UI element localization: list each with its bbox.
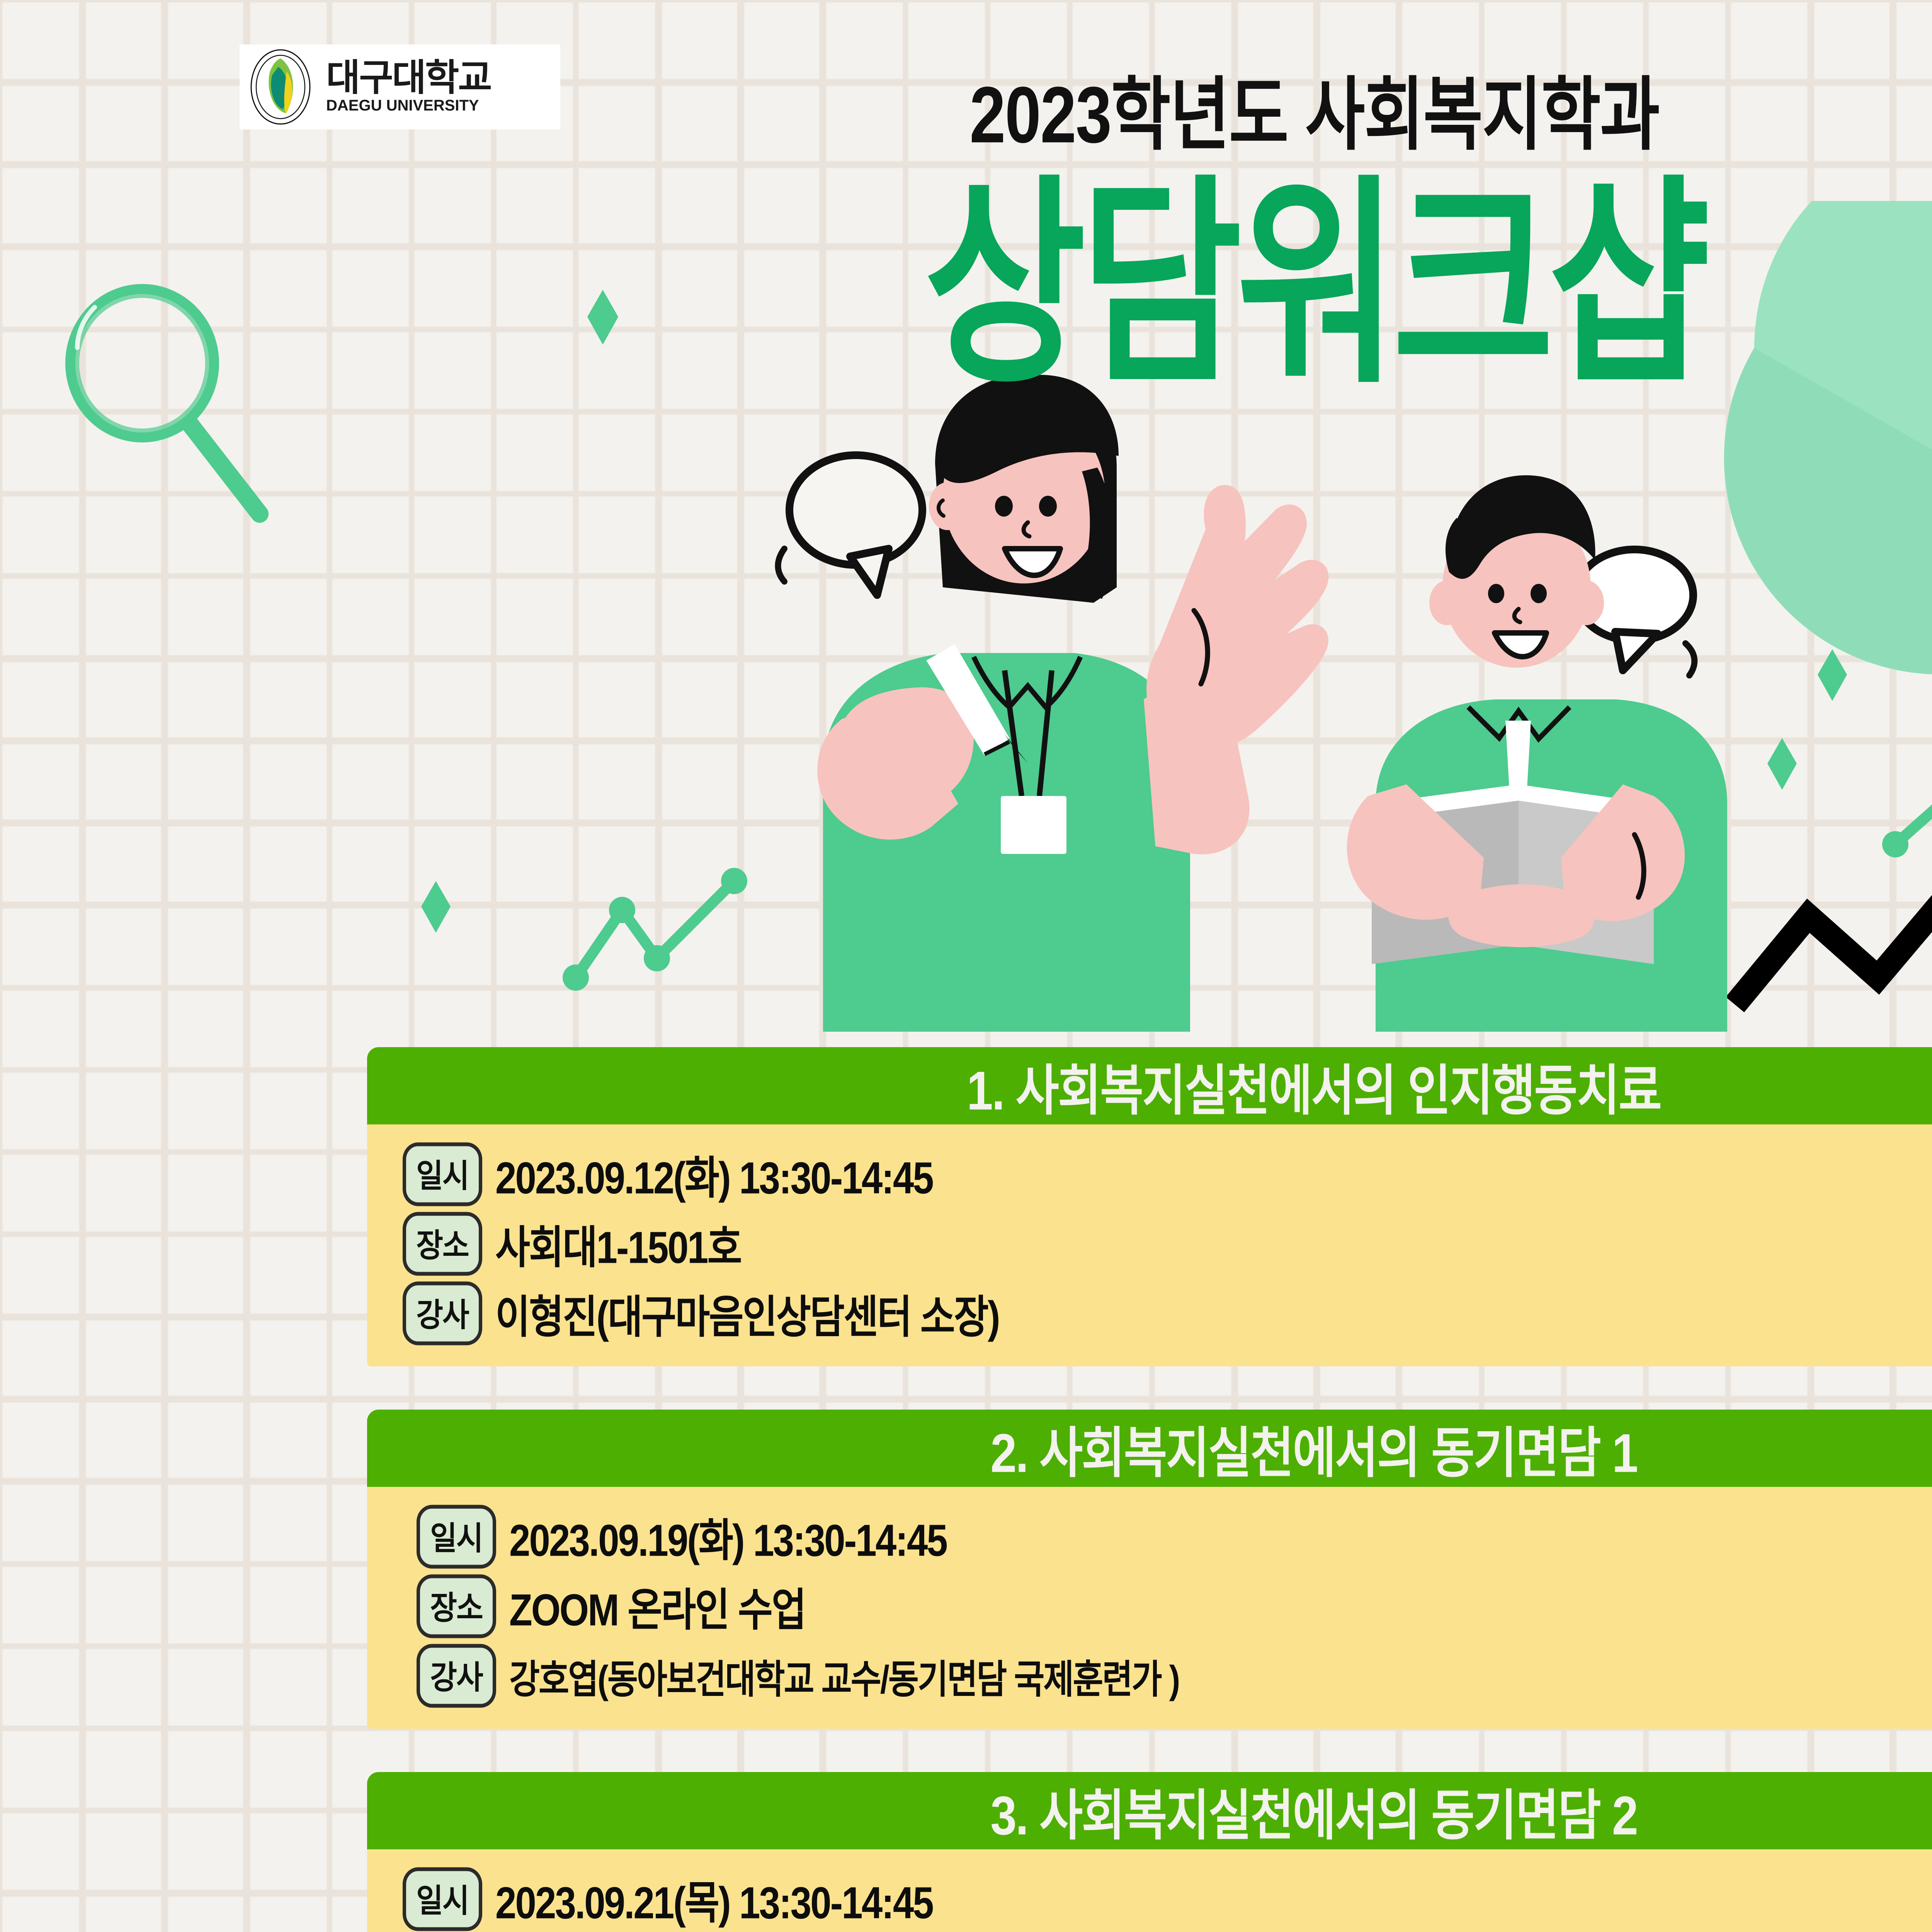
session-card: 2. 사회복지실천에서의 동기면담 1 일시 2023.09.19(화) 13:… <box>367 1410 1932 1729</box>
label-badge-instructor: 강사 <box>417 1644 496 1708</box>
id-badge <box>1001 796 1066 854</box>
value-date: 2023.09.19(화) 13:30-14:45 <box>509 1504 947 1569</box>
detail-row-date: 일시 2023.09.19(화) 13:30-14:45 <box>367 1508 1932 1566</box>
detail-row-instructor: 강사 이형진(대구마음인상담센터 소장) <box>367 1284 1932 1342</box>
detail-row-location: 장소 ZOOM 온라인 수업 <box>367 1577 1932 1635</box>
session-header: 3. 사회복지실천에서의 동기면담 2 <box>367 1772 1932 1849</box>
value-location: ZOOM 온라인 수업 <box>509 1574 805 1639</box>
label-badge-date: 일시 <box>403 1143 482 1206</box>
value-instructor: 강호엽(동아보건대학교 교수/동기면담 국제훈련가 ) <box>509 1647 1179 1704</box>
growth-arrow-icon <box>1735 773 1932 1005</box>
session-header: 1. 사회복지실천에서의 인지행동치료 <box>367 1047 1932 1124</box>
label-badge-location: 장소 <box>417 1575 496 1638</box>
session-details: 일시 2023.09.19(화) 13:30-14:45 장소 ZOOM 온라인… <box>367 1487 1932 1729</box>
poster-subtitle: 2023학년도 사회복지학과 <box>53 50 1932 166</box>
session-header: 2. 사회복지실천에서의 동기면담 1 <box>367 1410 1932 1487</box>
value-date: 2023.09.21(목) 13:30-14:45 <box>495 1867 933 1932</box>
line-chart-right-icon <box>1882 785 1932 857</box>
label-badge-instructor: 강사 <box>403 1282 482 1345</box>
label-badge-location: 장소 <box>403 1212 482 1276</box>
label-badge-date: 일시 <box>403 1867 482 1931</box>
session-title: 2. 사회복지실천에서의 동기면담 1 <box>990 1408 1637 1488</box>
detail-row-location: 장소 사회대1-1501호 <box>367 1215 1932 1273</box>
label-badge-date: 일시 <box>417 1505 496 1569</box>
speech-bubble-icon <box>778 455 923 595</box>
line-chart-left-icon <box>563 868 747 991</box>
value-instructor: 이형진(대구마음인상담센터 소장) <box>495 1281 999 1346</box>
value-location: 사회대1-1501호 <box>495 1211 741 1276</box>
detail-row-date: 일시 2023.09.21(목) 13:30-14:45 <box>367 1870 1932 1928</box>
session-list: 1. 사회복지실천에서의 인지행동치료 일시 2023.09.12(화) 13:… <box>367 1047 1932 1932</box>
session-title: 1. 사회복지실천에서의 인지행동치료 <box>967 1046 1661 1125</box>
session-details: 일시 2023.09.12(화) 13:30-14:45 장소 사회대1-150… <box>367 1124 1932 1366</box>
value-date: 2023.09.12(화) 13:30-14:45 <box>495 1142 933 1207</box>
session-card: 1. 사회복지실천에서의 인지행동치료 일시 2023.09.12(화) 13:… <box>367 1047 1932 1366</box>
session-card: 3. 사회복지실천에서의 동기면담 2 일시 2023.09.21(목) 13:… <box>367 1772 1932 1932</box>
detail-row-instructor: 강사 강호엽(동아보건대학교 교수/동기면담 국제훈련가 ) <box>367 1647 1932 1705</box>
detail-row-date: 일시 2023.09.12(화) 13:30-14:45 <box>367 1145 1932 1203</box>
poster-title: 상담워크샵 <box>39 182 1932 388</box>
session-details: 일시 2023.09.21(목) 13:30-14:45 장소 ZOOM 온라인… <box>367 1849 1932 1932</box>
session-title: 3. 사회복지실천에서의 동기면담 2 <box>990 1771 1637 1850</box>
